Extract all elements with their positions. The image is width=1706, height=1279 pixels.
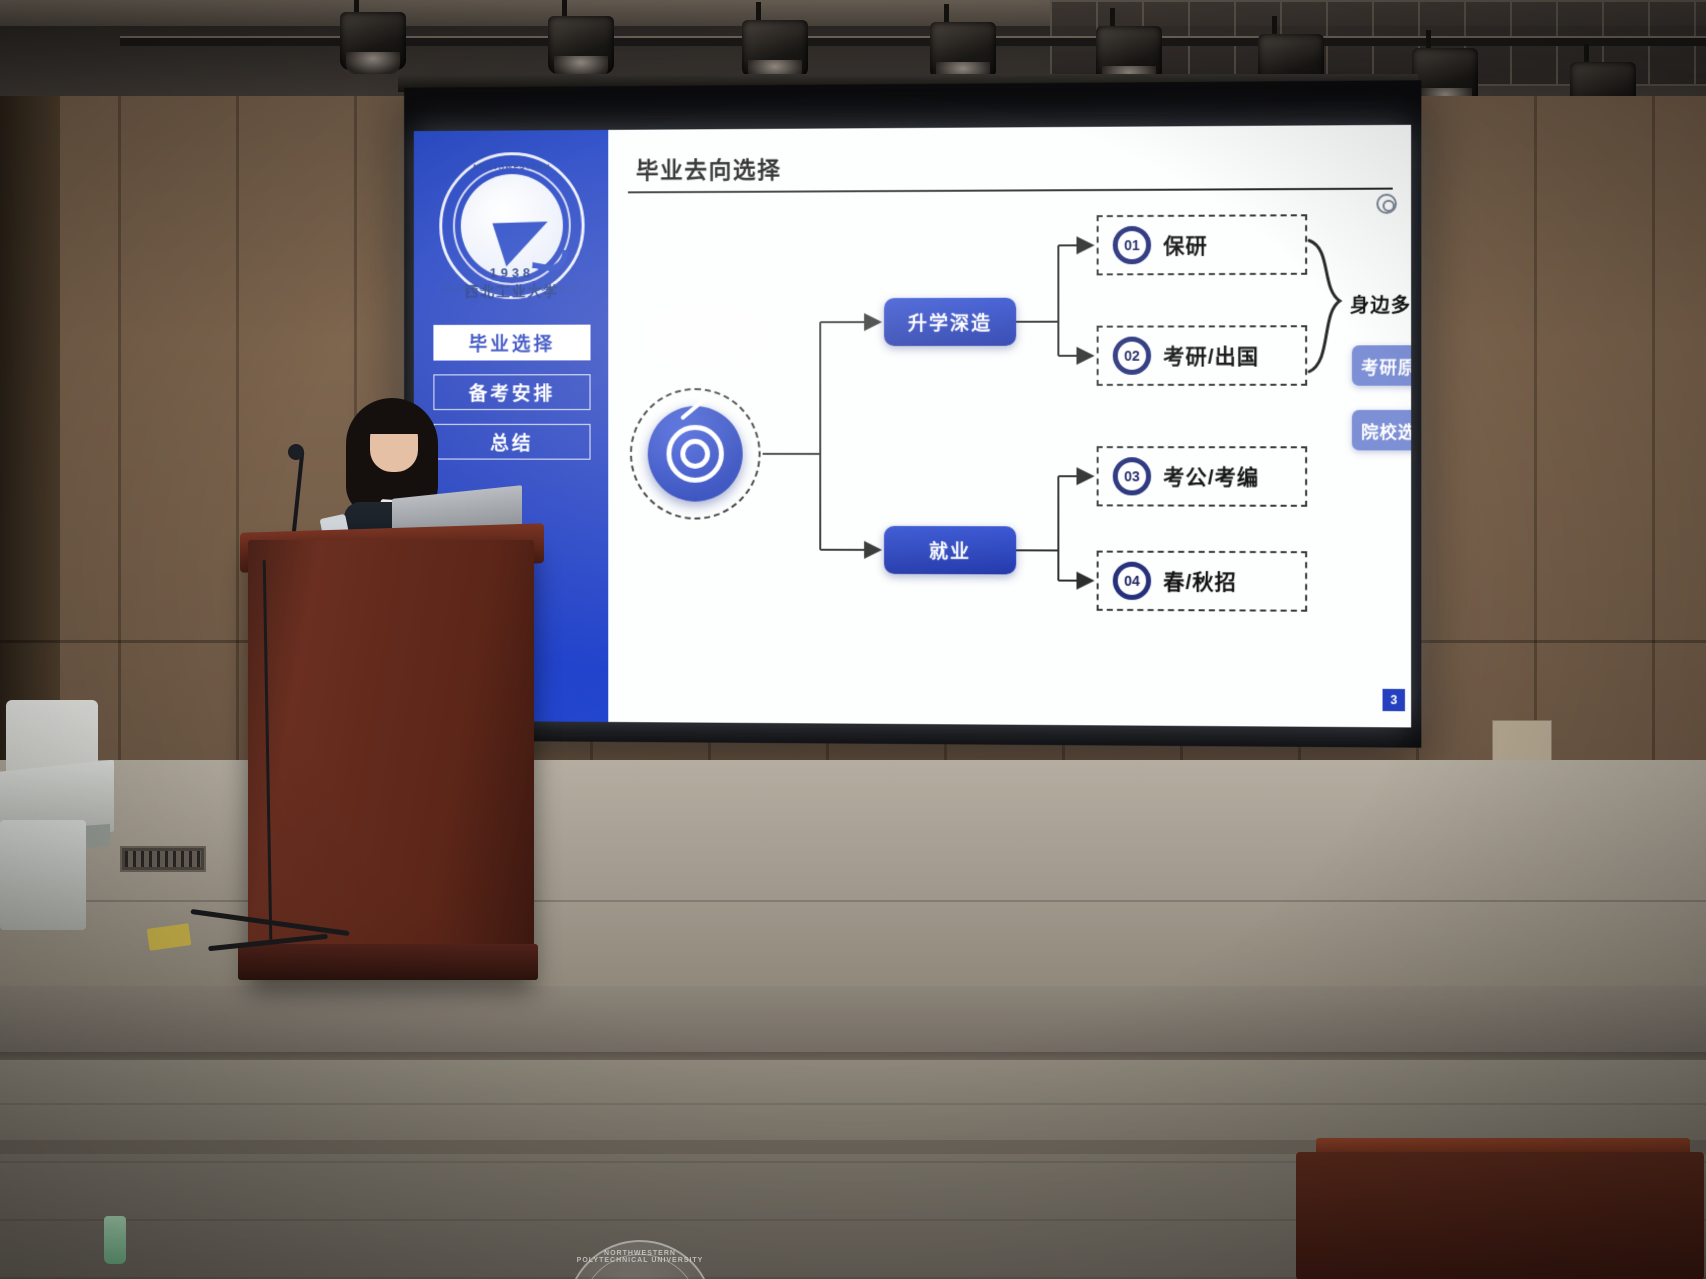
bottle: [104, 1216, 126, 1264]
logo-english-bottom: POLYTECHNICAL UNIVERSITY: [439, 284, 584, 293]
podium-base: [238, 944, 538, 980]
podium-seal-english: NORTHWESTERN POLYTECHNICAL UNIVERSITY: [568, 1250, 712, 1264]
leaf-item-01[interactable]: 01 保研: [1097, 214, 1308, 275]
nav-item-graduation-choice[interactable]: 毕业选择: [433, 325, 590, 361]
leaf-item-04[interactable]: 04 春/秋招: [1097, 551, 1308, 612]
leaf-number-badge: 01: [1113, 226, 1151, 264]
slide-nav: 毕业选择 备考安排 总结: [433, 325, 590, 474]
diagram-hub: [630, 388, 761, 520]
nav-item-summary[interactable]: 总结: [433, 424, 590, 460]
title-divider: [628, 188, 1393, 194]
presentation-slide: 1938 西北工业大学 NORTHWESTERN POLYTECHNICAL U…: [414, 125, 1411, 728]
chair: [0, 820, 86, 930]
bracket-note: 身边多数人选择: [1350, 290, 1411, 318]
podium: NORTHWESTERN POLYTECHNICAL UNIVERSITY 19…: [248, 540, 534, 980]
leaf-number-badge: 02: [1113, 337, 1151, 375]
branch-node-further-study[interactable]: 升学深造: [884, 298, 1016, 346]
lecture-hall-scene: 1938 西北工业大学 NORTHWESTERN POLYTECHNICAL U…: [0, 0, 1706, 1279]
leaf-number-badge: 03: [1113, 457, 1151, 495]
leaf-label: 考公/考编: [1163, 461, 1259, 491]
floor-vent: [120, 846, 206, 872]
question-badge-exam-reason[interactable]: 考研原因？: [1352, 345, 1411, 386]
flow-diagram: 升学深造 就业 01 保研 02 考研/出国 03 考公/考编 04 春/秋招: [608, 196, 1411, 728]
target-icon: [648, 406, 743, 502]
leaf-label: 保研: [1163, 230, 1208, 260]
wooden-bench: [1296, 1152, 1704, 1279]
logo-english-top: NORTHWESTERN: [439, 162, 584, 172]
leaf-label: 春/秋招: [1163, 566, 1237, 596]
question-badge-school-choice[interactable]: 院校选择？: [1352, 410, 1411, 450]
logo-year: 1938: [461, 265, 563, 280]
leaf-item-02[interactable]: 02 考研/出国: [1097, 325, 1308, 386]
slide-title: 毕业去向选择: [636, 151, 782, 186]
projection-screen: 1938 西北工业大学 NORTHWESTERN POLYTECHNICAL U…: [404, 80, 1421, 747]
slide-page-number: 3: [1383, 689, 1405, 711]
leaf-label: 考研/出国: [1163, 340, 1259, 370]
leaf-number-badge: 04: [1113, 562, 1151, 600]
microphone-icon: [288, 444, 304, 460]
wall-left-edge: [0, 96, 60, 796]
leaf-item-03[interactable]: 03 考公/考编: [1097, 446, 1308, 507]
nav-item-exam-prep[interactable]: 备考安排: [433, 374, 590, 410]
university-logo-icon: 1938 西北工业大学 NORTHWESTERN POLYTECHNICAL U…: [439, 152, 584, 299]
branch-node-employment[interactable]: 就业: [884, 526, 1016, 574]
